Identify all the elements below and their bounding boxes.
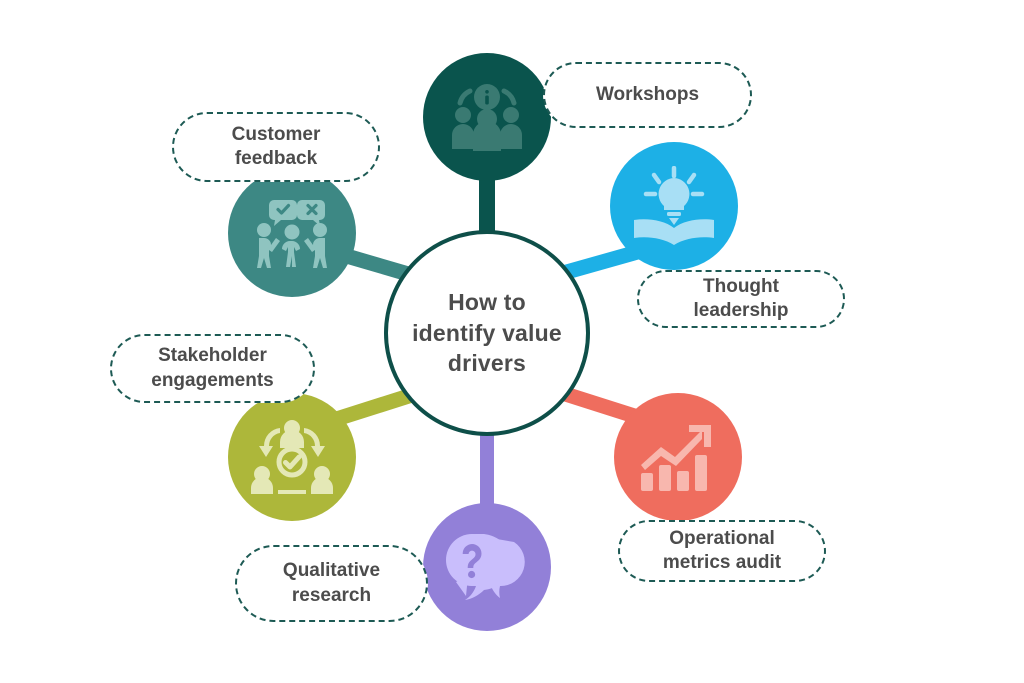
diagram-canvas: How to identify value drivers Workshops … [0, 0, 1024, 683]
node-stakeholder-engagements[interactable] [228, 393, 356, 521]
label-stakeholder-engagements-line-2: engagements [151, 369, 273, 393]
label-stakeholder-engagements-line-1: Stakeholder [151, 344, 273, 368]
label-customer-feedback-line-1: Customer [232, 123, 321, 147]
hub-title: How to identify value drivers [412, 287, 562, 379]
node-thought-leadership[interactable] [610, 142, 738, 270]
node-operational-metrics-audit[interactable] [614, 393, 742, 521]
label-customer-feedback-line-2: feedback [232, 147, 321, 171]
label-stakeholder-engagements[interactable]: Stakeholder engagements [110, 334, 315, 403]
label-operational-metrics-audit-line-1: Operational [663, 527, 781, 551]
label-operational-metrics-audit-line-2: metrics audit [663, 551, 781, 575]
label-operational-metrics-audit[interactable]: Operational metrics audit [618, 520, 826, 582]
hub-line-2: identify value [412, 318, 562, 349]
label-thought-leadership-line-1: Thought [693, 275, 788, 299]
people-feedback-bubbles-icon [250, 198, 334, 268]
lightbulb-book-icon [631, 166, 717, 246]
hub-line-3: drivers [412, 348, 562, 379]
bar-chart-growth-icon [639, 421, 717, 493]
question-speech-bubbles-icon [446, 534, 528, 600]
node-qualitative-research[interactable] [423, 503, 551, 631]
label-thought-leadership-line-2: leadership [693, 299, 788, 323]
node-customer-feedback[interactable] [228, 169, 356, 297]
label-workshops[interactable]: Workshops [543, 62, 752, 128]
label-workshops-line-1: Workshops [596, 83, 699, 107]
people-approval-cycle-icon [250, 418, 334, 496]
label-qualitative-research-line-2: research [283, 584, 380, 608]
label-thought-leadership[interactable]: Thought leadership [637, 270, 845, 328]
label-qualitative-research-line-1: Qualitative [283, 559, 380, 583]
label-customer-feedback[interactable]: Customer feedback [172, 112, 380, 182]
label-qualitative-research[interactable]: Qualitative research [235, 545, 428, 622]
hub-center[interactable]: How to identify value drivers [384, 230, 590, 436]
node-workshops[interactable] [423, 53, 551, 181]
hub-line-1: How to [412, 287, 562, 318]
people-info-icon [450, 83, 524, 151]
